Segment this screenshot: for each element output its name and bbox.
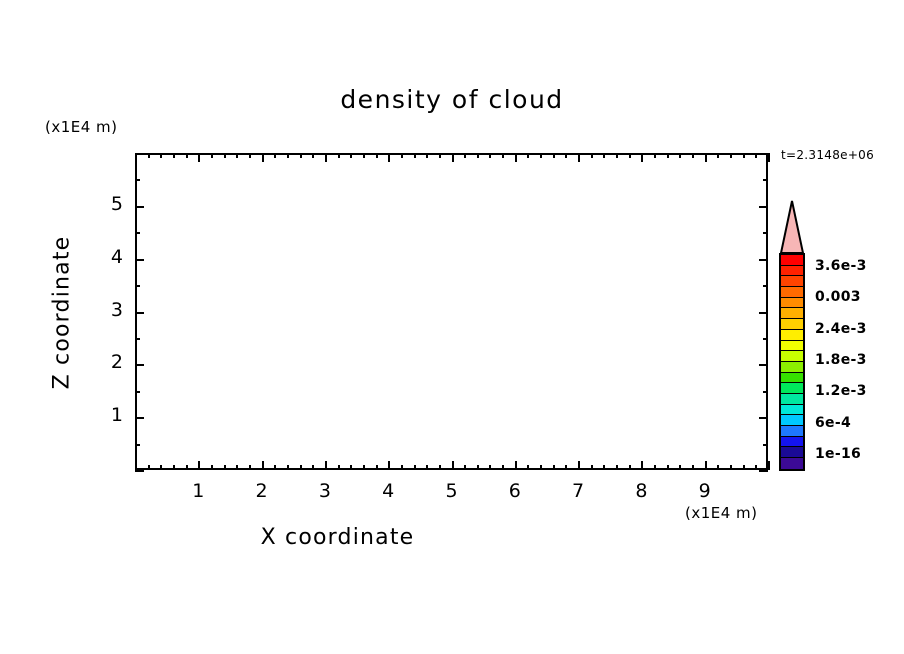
tick-mark xyxy=(388,153,390,162)
tick-mark xyxy=(641,153,643,162)
x-tick-label: 3 xyxy=(305,480,345,502)
tick-mark xyxy=(236,153,238,158)
tick-mark xyxy=(224,153,226,158)
colorbar-tick-label: 0.003 xyxy=(815,289,861,305)
colorbar-overflow-arrow xyxy=(779,199,805,255)
colorbar-segment xyxy=(781,330,803,341)
tick-mark xyxy=(759,364,768,366)
tick-mark xyxy=(603,153,605,158)
tick-mark xyxy=(763,285,768,287)
tick-mark xyxy=(616,465,618,470)
tick-mark xyxy=(717,153,719,158)
y-tick-label: 5 xyxy=(93,193,123,215)
colorbar-segment xyxy=(781,383,803,394)
tick-mark xyxy=(679,153,681,158)
colorbar-segment xyxy=(781,447,803,458)
tick-mark xyxy=(148,153,150,158)
tick-mark xyxy=(763,179,768,181)
y-axis-title: Z coordinate xyxy=(50,213,75,413)
tick-mark xyxy=(236,465,238,470)
tick-mark xyxy=(135,285,140,287)
x-tick-label: 5 xyxy=(432,480,472,502)
tick-mark xyxy=(654,465,656,470)
colorbar-segment xyxy=(781,276,803,287)
colorbar-tick-label: 3.6e-3 xyxy=(815,258,867,274)
x-tick-label: 8 xyxy=(621,480,661,502)
tick-mark xyxy=(755,153,757,158)
tick-mark xyxy=(274,465,276,470)
colorbar-segment xyxy=(781,437,803,448)
colorbar-segment xyxy=(781,415,803,426)
colorbar-segment xyxy=(781,266,803,277)
tick-mark xyxy=(763,232,768,234)
y-tick-label: 2 xyxy=(93,351,123,373)
colorbar-segments xyxy=(779,253,805,471)
tick-mark xyxy=(135,179,140,181)
tick-mark xyxy=(616,153,618,158)
colorbar-segment xyxy=(781,426,803,437)
tick-mark xyxy=(135,391,140,393)
x-tick-label: 6 xyxy=(495,480,535,502)
tick-mark xyxy=(160,465,162,470)
x-axis-title: X coordinate xyxy=(0,525,675,550)
tick-mark xyxy=(224,465,226,470)
tick-mark xyxy=(135,444,140,446)
y-tick-label: 4 xyxy=(93,246,123,268)
tick-mark xyxy=(135,364,144,366)
tick-mark xyxy=(629,153,631,158)
tick-mark xyxy=(173,153,175,158)
tick-mark xyxy=(173,465,175,470)
colorbar-tick-label: 6e-4 xyxy=(815,415,851,431)
tick-mark xyxy=(249,465,251,470)
colorbar-segment xyxy=(781,373,803,384)
tick-mark xyxy=(759,206,768,208)
tick-mark xyxy=(591,153,593,158)
tick-mark xyxy=(553,153,555,158)
tick-mark xyxy=(414,465,416,470)
colorbar-segment xyxy=(781,298,803,309)
tick-mark xyxy=(198,153,200,162)
tick-mark xyxy=(553,465,555,470)
tick-mark xyxy=(135,312,144,314)
colorbar-tick-label: 1e-16 xyxy=(815,446,861,462)
tick-mark xyxy=(629,465,631,470)
tick-mark xyxy=(135,470,144,472)
tick-mark xyxy=(743,153,745,158)
chart-title: density of cloud xyxy=(0,85,904,114)
tick-mark xyxy=(759,153,768,155)
tick-mark xyxy=(262,461,264,470)
tick-mark xyxy=(300,465,302,470)
tick-mark xyxy=(540,465,542,470)
tick-mark xyxy=(312,153,314,158)
y-tick-label: 3 xyxy=(93,299,123,321)
tick-mark xyxy=(489,153,491,158)
tick-mark xyxy=(262,153,264,162)
tick-mark xyxy=(759,259,768,261)
tick-mark xyxy=(135,232,140,234)
colorbar-tick-label: 1.2e-3 xyxy=(815,383,867,399)
tick-mark xyxy=(338,465,340,470)
tick-mark xyxy=(679,465,681,470)
x-tick-label: 4 xyxy=(368,480,408,502)
x-tick-label: 1 xyxy=(178,480,218,502)
tick-mark xyxy=(350,465,352,470)
tick-mark xyxy=(249,153,251,158)
tick-mark xyxy=(578,461,580,470)
colorbar-segment xyxy=(781,319,803,330)
tick-mark xyxy=(717,465,719,470)
tick-mark xyxy=(211,153,213,158)
tick-mark xyxy=(363,153,365,158)
colorbar-segment xyxy=(781,458,803,469)
tick-mark xyxy=(730,465,732,470)
tick-mark xyxy=(211,465,213,470)
tick-mark xyxy=(135,461,137,470)
tick-mark xyxy=(759,312,768,314)
colorbar-segment xyxy=(781,362,803,373)
tick-mark xyxy=(135,206,144,208)
tick-mark xyxy=(439,465,441,470)
tick-mark xyxy=(502,465,504,470)
tick-mark xyxy=(300,153,302,158)
tick-mark xyxy=(439,153,441,158)
colorbar-segment xyxy=(781,308,803,319)
tick-mark xyxy=(763,338,768,340)
tick-mark xyxy=(388,461,390,470)
tick-mark xyxy=(186,153,188,158)
tick-mark xyxy=(135,417,144,419)
x-axis-unit-label: (x1E4 m) xyxy=(685,504,758,522)
tick-mark xyxy=(667,465,669,470)
tick-mark xyxy=(325,461,327,470)
tick-mark xyxy=(274,153,276,158)
tick-mark xyxy=(312,465,314,470)
time-annotation: t=2.3148e+06 xyxy=(781,148,874,162)
tick-mark xyxy=(477,465,479,470)
tick-mark xyxy=(654,153,656,158)
tick-mark xyxy=(452,461,454,470)
tick-mark xyxy=(527,153,529,158)
tick-mark xyxy=(763,444,768,446)
tick-mark xyxy=(705,153,707,162)
tick-mark xyxy=(363,465,365,470)
x-tick-label: 7 xyxy=(558,480,598,502)
tick-mark xyxy=(743,465,745,470)
colorbar-segment xyxy=(781,351,803,362)
tick-mark xyxy=(148,465,150,470)
tick-mark xyxy=(401,153,403,158)
tick-mark xyxy=(768,153,770,162)
tick-mark xyxy=(755,465,757,470)
tick-mark xyxy=(376,465,378,470)
tick-mark xyxy=(376,153,378,158)
colorbar-segment xyxy=(781,287,803,298)
x-tick-label: 2 xyxy=(242,480,282,502)
tick-mark xyxy=(135,338,140,340)
tick-mark xyxy=(198,461,200,470)
tick-mark xyxy=(502,153,504,158)
tick-mark xyxy=(160,153,162,158)
tick-mark xyxy=(338,153,340,158)
tick-mark xyxy=(730,153,732,158)
tick-mark xyxy=(135,153,144,155)
tick-mark xyxy=(591,465,593,470)
tick-mark xyxy=(768,461,770,470)
tick-mark xyxy=(759,470,768,472)
tick-mark xyxy=(186,465,188,470)
tick-mark xyxy=(692,153,694,158)
tick-mark xyxy=(527,465,529,470)
colorbar-segment xyxy=(781,341,803,352)
tick-mark xyxy=(565,153,567,158)
tick-mark xyxy=(401,465,403,470)
plot-frame xyxy=(135,153,768,470)
tick-mark xyxy=(135,259,144,261)
colorbar-segment xyxy=(781,405,803,416)
tick-mark xyxy=(414,153,416,158)
colorbar-tick-label: 1.8e-3 xyxy=(815,352,867,368)
tick-mark xyxy=(763,391,768,393)
tick-mark xyxy=(477,153,479,158)
tick-mark xyxy=(452,153,454,162)
colorbar-segment xyxy=(781,394,803,405)
tick-mark xyxy=(692,465,694,470)
tick-mark xyxy=(426,465,428,470)
x-tick-label: 9 xyxy=(685,480,725,502)
tick-mark xyxy=(759,417,768,419)
tick-mark xyxy=(426,153,428,158)
tick-mark xyxy=(667,153,669,158)
tick-mark xyxy=(325,153,327,162)
colorbar-tick-label: 2.4e-3 xyxy=(815,321,867,337)
tick-mark xyxy=(350,153,352,158)
tick-mark xyxy=(565,465,567,470)
tick-mark xyxy=(287,465,289,470)
tick-mark xyxy=(489,465,491,470)
tick-mark xyxy=(287,153,289,158)
tick-mark xyxy=(641,461,643,470)
tick-mark xyxy=(515,153,517,162)
tick-mark xyxy=(464,465,466,470)
tick-mark xyxy=(705,461,707,470)
y-tick-label: 1 xyxy=(93,404,123,426)
tick-mark xyxy=(515,461,517,470)
colorbar-segment xyxy=(781,255,803,266)
z-axis-unit-label: (x1E4 m) xyxy=(45,118,118,136)
tick-mark xyxy=(603,465,605,470)
tick-mark xyxy=(578,153,580,162)
tick-mark xyxy=(540,153,542,158)
tick-mark xyxy=(464,153,466,158)
